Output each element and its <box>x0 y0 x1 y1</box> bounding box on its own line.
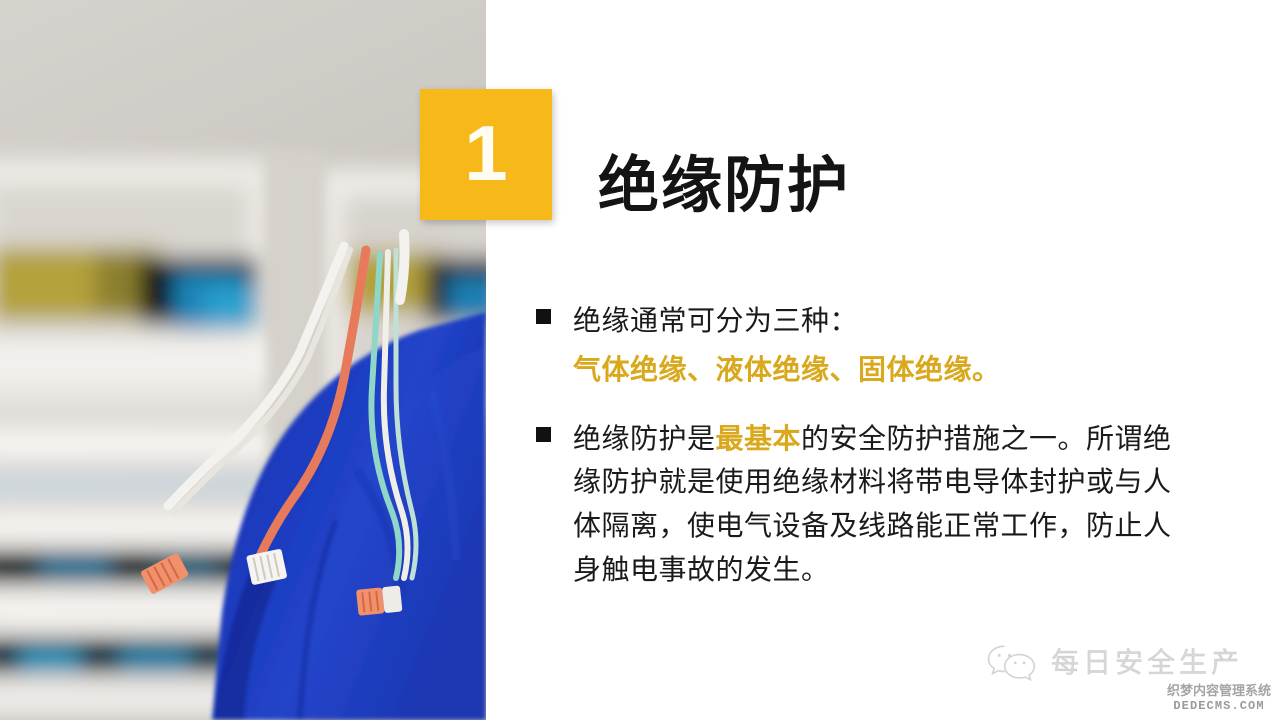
square-bullet-icon <box>536 427 551 442</box>
bullet-2-text: 绝缘防护是最基本的安全防护措施之一。所谓绝缘防护就是使用绝缘材料将带电导体封护或… <box>573 417 1186 592</box>
bullet-1-subline: 气体绝缘、液体绝缘、固体绝缘。 <box>573 349 1186 391</box>
slide-photo <box>0 0 486 720</box>
wechat-watermark-label: 每日安全生产 <box>1051 649 1243 677</box>
bullet-2-highlight: 最基本 <box>716 423 802 454</box>
dedecms-watermark-en: DEDECMS.COM <box>1167 699 1271 713</box>
square-bullet-icon <box>536 309 551 324</box>
dedecms-watermark: 织梦内容管理系统 DEDECMS.COM <box>1167 684 1271 713</box>
slide-canvas: 1 绝缘防护 绝缘通常可分为三种： 气体绝缘、液体绝缘、固体绝缘。 绝缘防护是最… <box>0 0 1280 720</box>
bullet-1-text: 绝缘通常可分为三种： <box>573 299 1186 343</box>
section-number-badge: 1 <box>420 89 552 220</box>
wechat-watermark: 每日安全生产 <box>985 643 1243 683</box>
bullet-item-2: 绝缘防护是最基本的安全防护措施之一。所谓绝缘防护就是使用绝缘材料将带电导体封护或… <box>536 417 1186 592</box>
page-title: 绝缘防护 <box>598 151 850 219</box>
dedecms-watermark-cn: 织梦内容管理系统 <box>1167 684 1271 699</box>
wechat-icon <box>985 643 1037 683</box>
section-number: 1 <box>464 114 507 192</box>
bullet-item-1: 绝缘通常可分为三种： 气体绝缘、液体绝缘、固体绝缘。 <box>536 299 1186 391</box>
photo-illustration <box>0 0 486 720</box>
content-body: 绝缘通常可分为三种： 气体绝缘、液体绝缘、固体绝缘。 绝缘防护是最基本的安全防护… <box>536 299 1186 605</box>
bullet-2-text-before: 绝缘防护是 <box>573 423 716 454</box>
